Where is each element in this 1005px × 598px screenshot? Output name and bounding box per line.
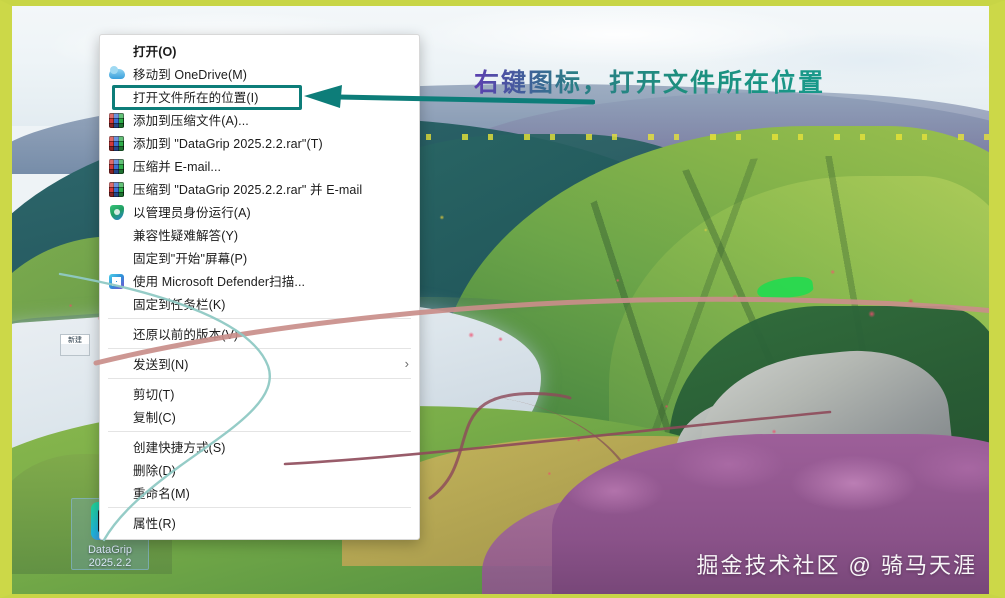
onedrive-icon-art <box>109 69 125 79</box>
context-menu-item-label: 复制(C) <box>133 407 409 426</box>
defender-icon <box>108 273 126 289</box>
context-menu-item-label: 压缩并 E-mail... <box>133 156 409 175</box>
annotation-callout-text: 右键图标，打开文件所在位置 <box>474 63 825 99</box>
winrar-icon-art <box>109 182 124 197</box>
winrar-icon-art <box>109 136 124 151</box>
context-menu-item[interactable]: 打开文件所在的位置(I) <box>100 85 419 108</box>
menu-item-icon-placeholder <box>108 227 126 243</box>
context-menu-item-label: 打开文件所在的位置(I) <box>133 87 409 106</box>
context-menu-separator <box>108 378 411 379</box>
context-menu-separator <box>108 431 411 432</box>
menu-item-icon-placeholder <box>108 250 126 266</box>
shield-icon <box>108 204 126 220</box>
context-menu-item-label: 固定到"开始"屏幕(P) <box>133 248 409 267</box>
context-menu[interactable]: 打开(O)移动到 OneDrive(M)打开文件所在的位置(I)添加到压缩文件(… <box>99 34 420 540</box>
context-menu-item[interactable]: 打开(O) <box>100 39 419 62</box>
context-menu-item[interactable]: 移动到 OneDrive(M) <box>100 62 419 85</box>
context-menu-item-label: 属性(R) <box>133 513 409 532</box>
menu-item-icon-placeholder <box>108 462 126 478</box>
menu-item-icon-placeholder <box>108 485 126 501</box>
context-menu-item-label: 添加到压缩文件(A)... <box>133 110 409 129</box>
left-window-thumbnail[interactable]: 新建 <box>60 334 90 356</box>
menu-item-icon-placeholder <box>108 386 126 402</box>
context-menu-item[interactable]: 以管理员身份运行(A) <box>100 200 419 223</box>
context-menu-item[interactable]: 属性(R) <box>100 511 419 534</box>
context-menu-separator <box>108 348 411 349</box>
context-menu-item[interactable]: 压缩到 "DataGrip 2025.2.2.rar" 并 E-mail <box>100 177 419 200</box>
context-menu-item-label: 移动到 OneDrive(M) <box>133 64 409 83</box>
context-menu-item-label: 固定到任务栏(K) <box>133 294 409 313</box>
context-menu-item[interactable]: 压缩并 E-mail... <box>100 154 419 177</box>
menu-item-icon-placeholder <box>108 515 126 531</box>
context-menu-item-label: 使用 Microsoft Defender扫描... <box>133 271 409 290</box>
menu-item-icon-placeholder <box>108 409 126 425</box>
winrar-icon <box>108 112 126 128</box>
context-menu-item[interactable]: 重命名(M) <box>100 481 419 504</box>
context-menu-item[interactable]: 使用 Microsoft Defender扫描... <box>100 269 419 292</box>
context-menu-item-label: 还原以前的版本(V) <box>133 324 409 343</box>
menu-item-icon-placeholder <box>108 326 126 342</box>
menu-item-icon-placeholder <box>108 89 126 105</box>
shield-icon-art <box>110 205 124 220</box>
context-menu-item[interactable]: 复制(C) <box>100 405 419 428</box>
context-menu-item[interactable]: 发送到(N)› <box>100 352 419 375</box>
context-menu-item-label: 删除(D) <box>133 460 409 479</box>
context-menu-separator <box>108 318 411 319</box>
context-menu-separator <box>108 507 411 508</box>
defender-icon-art <box>109 274 124 289</box>
context-menu-item[interactable]: 固定到"开始"屏幕(P) <box>100 246 419 269</box>
menu-item-icon-placeholder <box>108 356 126 372</box>
context-menu-item-label: 以管理员身份运行(A) <box>133 202 409 221</box>
context-menu-item-label: 剪切(T) <box>133 384 409 403</box>
winrar-icon <box>108 135 126 151</box>
left-partial-window <box>14 20 100 520</box>
context-menu-item-label: 兼容性疑难解答(Y) <box>133 225 409 244</box>
onedrive-icon <box>108 66 126 82</box>
context-menu-item-label: 创建快捷方式(S) <box>133 437 409 456</box>
menu-item-icon-placeholder <box>108 296 126 312</box>
context-menu-item[interactable]: 添加到 "DataGrip 2025.2.2.rar"(T) <box>100 131 419 154</box>
context-menu-item-label: 发送到(N) <box>133 354 397 373</box>
context-menu-item[interactable]: 剪切(T) <box>100 382 419 405</box>
winrar-icon <box>108 158 126 174</box>
context-menu-item-label: 添加到 "DataGrip 2025.2.2.rar"(T) <box>133 133 409 152</box>
menu-item-icon-placeholder <box>108 43 126 59</box>
context-menu-item-label: 打开(O) <box>133 41 409 60</box>
winrar-icon-art <box>109 159 124 174</box>
context-menu-item[interactable]: 添加到压缩文件(A)... <box>100 108 419 131</box>
watermark: 掘金技术社区 @ 骑马天涯 <box>696 548 977 580</box>
chevron-right-icon: › <box>405 356 409 371</box>
winrar-icon-art <box>109 113 124 128</box>
context-menu-item[interactable]: 固定到任务栏(K) <box>100 292 419 315</box>
screen-root: 新建 DG DataGrip 2025.2.2 打开(O)移动到 OneDriv… <box>0 0 1005 598</box>
context-menu-item[interactable]: 创建快捷方式(S) <box>100 435 419 458</box>
context-menu-item[interactable]: 删除(D) <box>100 458 419 481</box>
context-menu-item-label: 重命名(M) <box>133 483 409 502</box>
context-menu-item-label: 压缩到 "DataGrip 2025.2.2.rar" 并 E-mail <box>133 179 409 198</box>
context-menu-item[interactable]: 还原以前的版本(V) <box>100 322 419 345</box>
context-menu-item[interactable]: 兼容性疑难解答(Y) <box>100 223 419 246</box>
menu-item-icon-placeholder <box>108 439 126 455</box>
winrar-icon <box>108 181 126 197</box>
